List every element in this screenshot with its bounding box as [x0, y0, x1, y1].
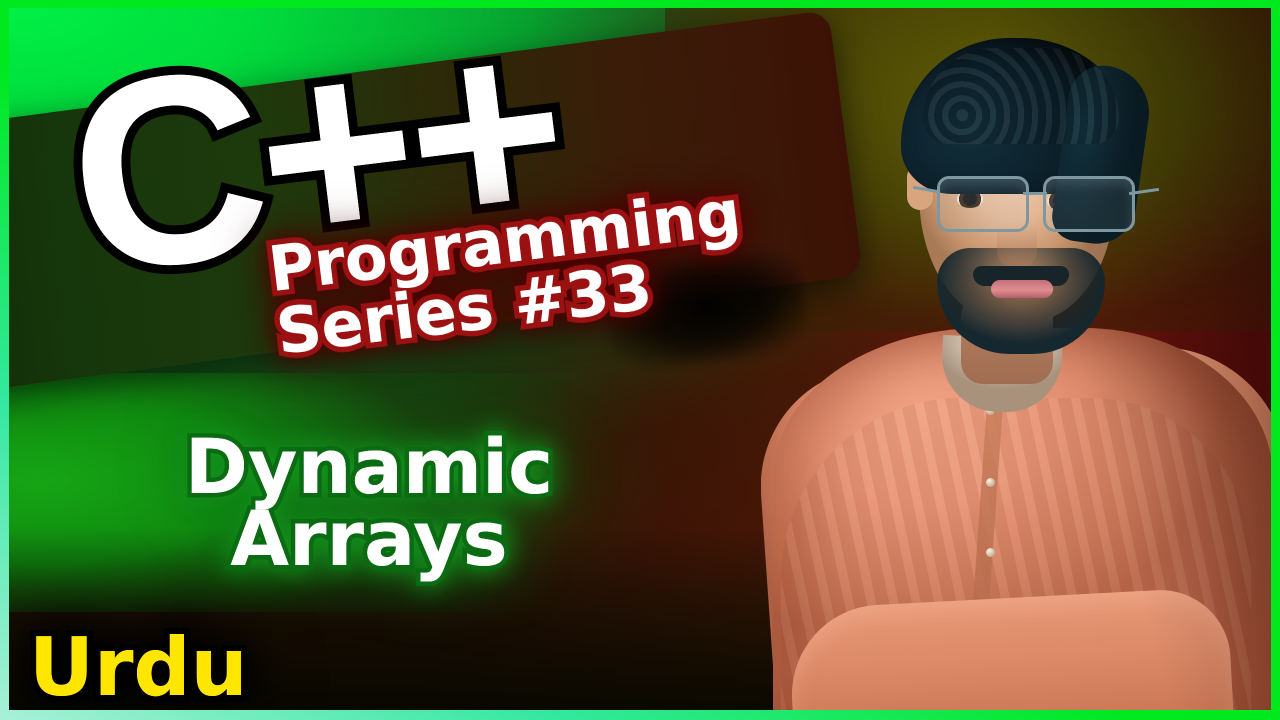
topic-line-2-fill: Arrays — [9, 500, 729, 578]
presenter-shirt-button — [986, 548, 995, 557]
presenter-hair-texture — [923, 48, 1119, 144]
youtube-thumbnail: C++ C++ Programming Series #33 Programmi… — [0, 0, 1280, 720]
presenter-glasses — [927, 176, 1141, 230]
thumbnail-canvas: C++ C++ Programming Series #33 Programmi… — [9, 8, 1271, 710]
presenter-mouth — [991, 280, 1053, 298]
presenter-portrait — [761, 8, 1271, 710]
presenter-shirt-button — [986, 478, 995, 487]
glasses-lens-left — [937, 176, 1029, 232]
glasses-bridge — [1023, 192, 1047, 195]
glasses-lens-right — [1043, 176, 1135, 232]
topic-title: Dynamic Arrays — [9, 428, 729, 579]
language-badge: Urdu — [29, 628, 248, 708]
